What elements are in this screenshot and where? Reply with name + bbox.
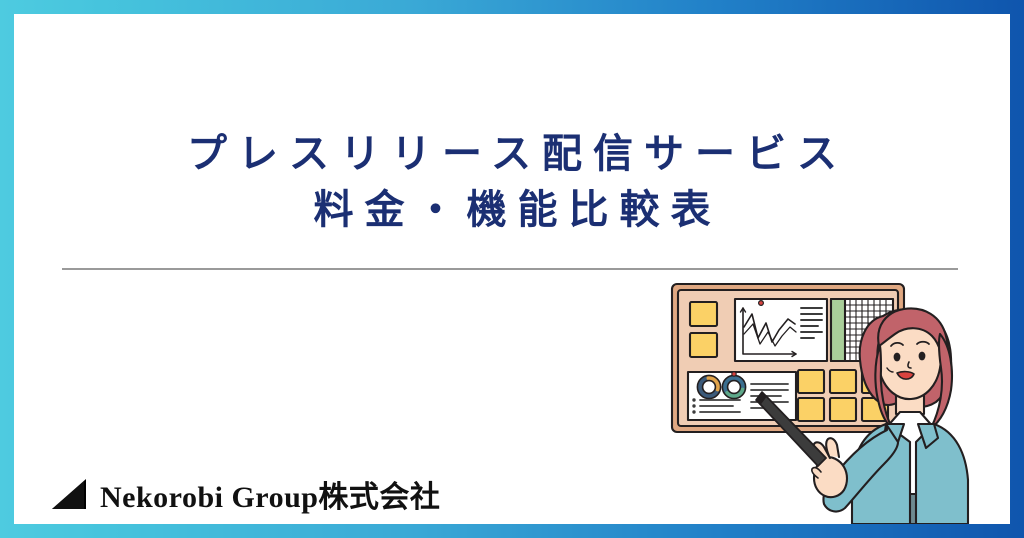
presenter-illustration <box>648 272 978 524</box>
slide-frame: プレスリリース配信サービス 料金・機能比較表 Nekorobi Group株式会… <box>0 0 1024 538</box>
title-line-2: 料金・機能比較表 <box>14 182 1010 238</box>
hand <box>812 438 847 497</box>
page-title: プレスリリース配信サービス 料金・機能比較表 <box>14 126 1010 238</box>
company-logo: Nekorobi Group株式会社 <box>50 472 440 516</box>
line-chart-panel <box>735 299 827 361</box>
title-divider <box>62 268 958 270</box>
title-line-1: プレスリリース配信サービス <box>14 126 1010 182</box>
company-name: Nekorobi Group株式会社 <box>100 472 440 516</box>
slide-canvas: プレスリリース配信サービス 料金・機能比較表 Nekorobi Group株式会… <box>14 14 1010 524</box>
triangle-mark-icon <box>50 477 88 511</box>
